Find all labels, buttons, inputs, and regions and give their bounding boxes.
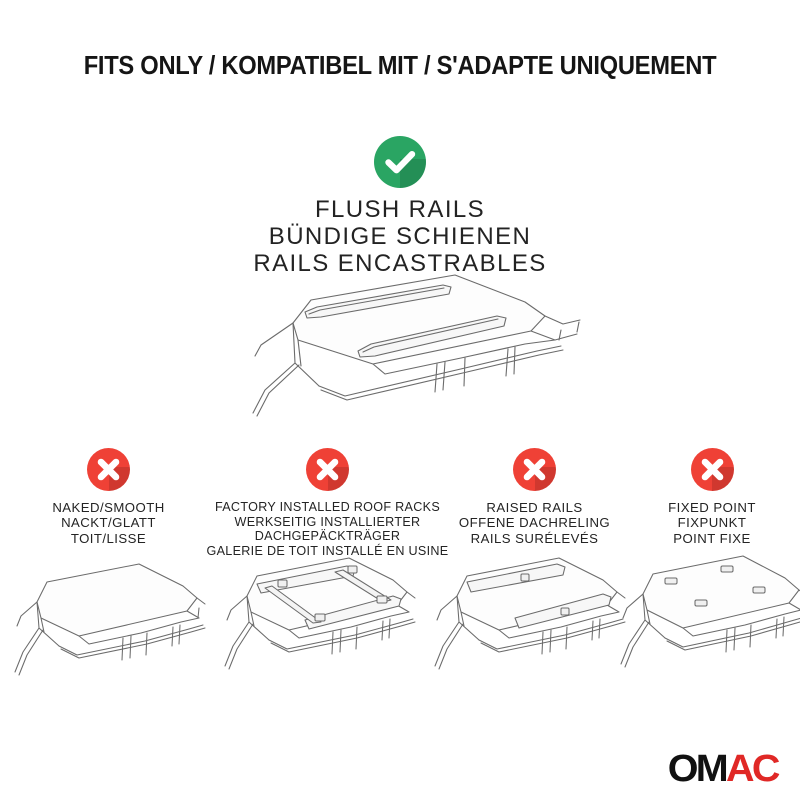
option-raised-rails: RAISED RAILS OFFENE DACHRELING RAILS SUR…: [437, 448, 632, 546]
approved-section: FLUSH RAILS BÜNDIGE SCHIENEN RAILS ENCAS…: [0, 136, 800, 278]
option-label-en: FACTORY INSTALLED ROOF RACKS: [205, 500, 450, 515]
option-label-de: OFFENE DACHRELING: [437, 515, 632, 530]
approved-label-de: BÜNDIGE SCHIENEN: [0, 224, 800, 251]
car-roof-raised-rails-illustration: [429, 548, 629, 678]
header: FITS ONLY / KOMPATIBEL MIT / S'ADAPTE UN…: [0, 52, 800, 81]
option-naked-smooth-labels: NAKED/SMOOTH NACKT/GLATT TOIT/LISSE: [7, 500, 210, 546]
option-label-de: FIXPUNKT: [624, 515, 800, 530]
logo-text-dark: OM: [668, 748, 726, 790]
option-label-fr: POINT FIXE: [624, 531, 800, 546]
option-factory-roof-racks: FACTORY INSTALLED ROOF RACKS WERKSEITIG …: [205, 448, 450, 558]
check-circle-icon: [374, 136, 426, 188]
option-label-en: RAISED RAILS: [437, 500, 632, 515]
car-roof-factory-racks-illustration: [217, 548, 431, 678]
option-label-en: FIXED POINT: [624, 500, 800, 515]
option-fixed-point: FIXED POINT FIXPUNKT POINT FIXE: [624, 448, 800, 546]
option-raised-rails-labels: RAISED RAILS OFFENE DACHRELING RAILS SUR…: [437, 500, 632, 546]
option-label-fr: RAILS SURÉLEVÉS: [437, 531, 632, 546]
logo-text-red: AC: [726, 748, 778, 790]
x-circle-icon: [306, 448, 349, 491]
car-roof-fixed-point-illustration: [617, 548, 800, 678]
option-naked-smooth: NAKED/SMOOTH NACKT/GLATT TOIT/LISSE: [7, 448, 210, 546]
approved-label-en: FLUSH RAILS: [0, 197, 800, 224]
x-circle-icon: [87, 448, 130, 491]
option-label-de-2: DACHGEPÄCKTRÄGER: [205, 529, 450, 544]
x-circle-icon: [691, 448, 734, 491]
omac-logo: OMAC: [668, 750, 778, 788]
page-title: FITS ONLY / KOMPATIBEL MIT / S'ADAPTE UN…: [28, 52, 772, 81]
not-compatible-row: NAKED/SMOOTH NACKT/GLATT TOIT/LISSE: [0, 448, 800, 748]
car-roof-naked-smooth-illustration: [11, 556, 207, 686]
approved-labels: FLUSH RAILS BÜNDIGE SCHIENEN RAILS ENCAS…: [0, 197, 800, 278]
option-label-fr: TOIT/LISSE: [7, 531, 210, 546]
option-label-en: NAKED/SMOOTH: [7, 500, 210, 515]
car-roof-flush-rails-illustration: [225, 268, 615, 436]
option-fixed-point-labels: FIXED POINT FIXPUNKT POINT FIXE: [624, 500, 800, 546]
option-label-de-1: WERKSEITIG INSTALLIERTER: [205, 515, 450, 530]
x-circle-icon: [513, 448, 556, 491]
option-label-de: NACKT/GLATT: [7, 515, 210, 530]
